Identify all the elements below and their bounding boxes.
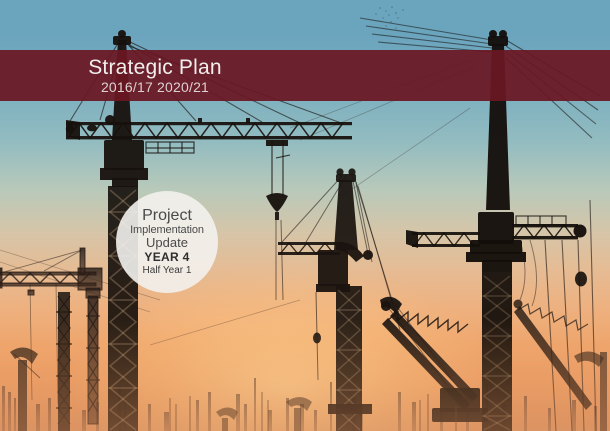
cover-page: Strategic Plan 2016/17 2020/21 Project I… bbox=[0, 0, 610, 431]
machinery-house bbox=[100, 140, 148, 187]
crane-far-left bbox=[0, 248, 102, 424]
crane-left-tower bbox=[56, 292, 72, 431]
background-guy-cables bbox=[0, 60, 476, 345]
project-update-badge: Project Implementation Update YEAR 4 Hal… bbox=[116, 191, 218, 293]
hook-block-assembly bbox=[266, 140, 290, 300]
title-text-block: Strategic Plan 2016/17 2020/21 bbox=[0, 50, 610, 101]
crane-mid-low-cluster bbox=[216, 397, 312, 431]
badge-line-update: Update bbox=[146, 236, 188, 250]
page-title: Strategic Plan bbox=[88, 56, 222, 79]
jib-lattice bbox=[68, 123, 343, 138]
badge-line-project: Project bbox=[142, 207, 192, 224]
catwalk bbox=[146, 142, 194, 153]
crane-right-lattice-boom bbox=[380, 297, 488, 422]
badge-line-year: YEAR 4 bbox=[144, 250, 189, 265]
badge-line-half-year: Half Year 1 bbox=[143, 265, 192, 277]
page-subtitle: 2016/17 2020/21 bbox=[101, 79, 209, 96]
bird-flock bbox=[375, 6, 404, 29]
